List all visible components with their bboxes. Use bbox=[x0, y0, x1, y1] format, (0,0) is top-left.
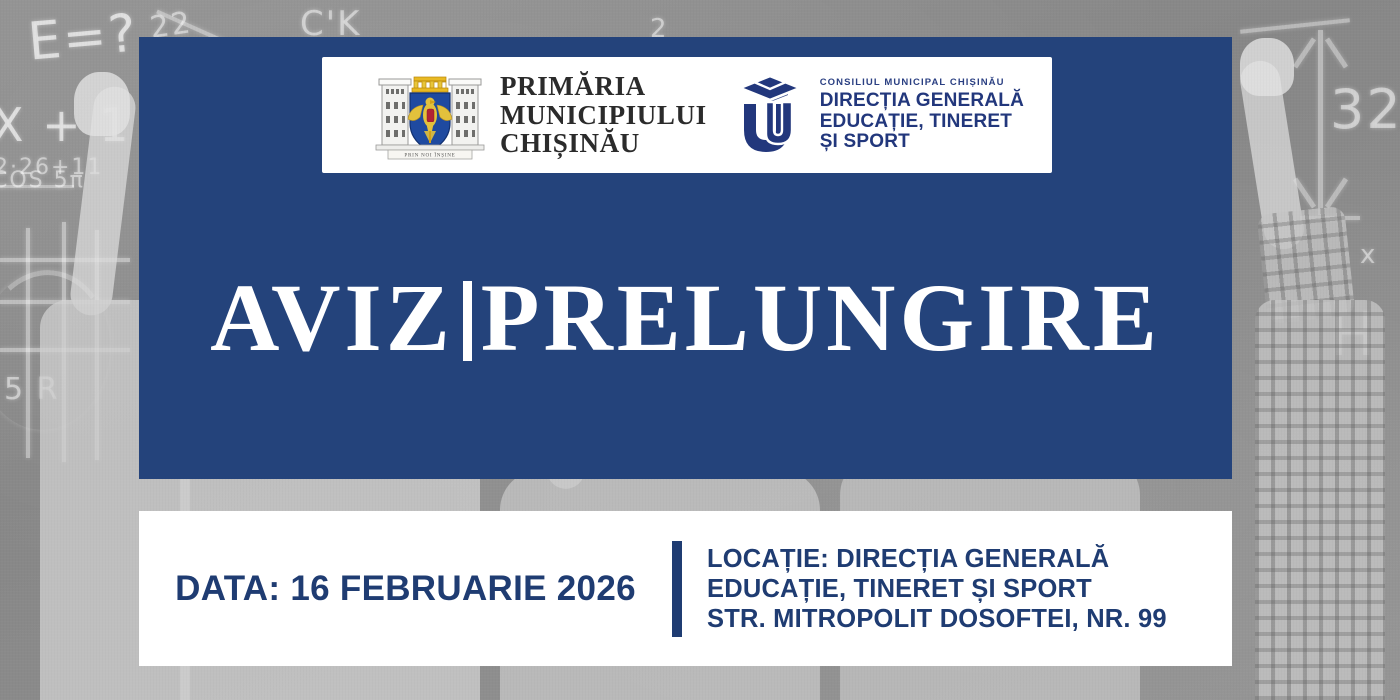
footer-divider bbox=[672, 541, 682, 637]
dgets-line-1: DIRECȚIA GENERALĂ bbox=[820, 91, 1024, 112]
poster-canvas: E=? 22 C'K 2 X + 1 = 2·26+11 COS 5π 5 R … bbox=[0, 0, 1400, 700]
event-date: DATA: 16 FEBRUARIE 2026 bbox=[139, 569, 672, 609]
dgets-superline: CONSILIUL MUNICIPAL CHIȘINĂU bbox=[820, 77, 1024, 88]
title-part-prelungire: PRELUNGIRE bbox=[481, 264, 1161, 371]
location-line-3: STR. MITROPOLIT DOSOFTEI, NR. 99 bbox=[707, 604, 1167, 634]
title-part-aviz: AVIZ bbox=[210, 264, 454, 371]
dgets-monogram-icon bbox=[736, 72, 808, 158]
primaria-line-3: CHIȘINĂU bbox=[500, 129, 707, 158]
primaria-line-2: MUNICIPIULUI bbox=[500, 101, 707, 130]
primaria-line-1: PRIMĂRIA bbox=[500, 72, 707, 101]
chisinau-coat-of-arms-icon: PRIN NOI ÎNȘINE bbox=[374, 69, 486, 161]
primaria-logo-group: PRIN NOI ÎNȘINE PRIMĂRIA MUNICIPIULUI CH… bbox=[374, 69, 707, 161]
dgets-line-2: EDUCAȚIE, TINERET bbox=[820, 112, 1024, 133]
dgets-wordmark: CONSILIUL MUNICIPAL CHIȘINĂU DIRECȚIA GE… bbox=[820, 77, 1024, 153]
footer-bar: DATA: 16 FEBRUARIE 2026 LOCAȚIE: DIRECȚI… bbox=[139, 511, 1232, 666]
coat-of-arms-motto: PRIN NOI ÎNȘINE bbox=[404, 151, 455, 159]
logo-strip: PRIN NOI ÎNȘINE PRIMĂRIA MUNICIPIULUI CH… bbox=[322, 57, 1052, 173]
location-line-2: EDUCAȚIE, TINERET ȘI SPORT bbox=[707, 574, 1167, 604]
title-separator-bar bbox=[463, 281, 472, 361]
page-title: AVIZPRELUNGIRE bbox=[139, 262, 1232, 374]
location-line-1: LOCAȚIE: DIRECȚIA GENERALĂ bbox=[707, 544, 1167, 574]
dgets-logo-group: CONSILIUL MUNICIPAL CHIȘINĂU DIRECȚIA GE… bbox=[736, 72, 1024, 158]
primaria-wordmark: PRIMĂRIA MUNICIPIULUI CHIȘINĂU bbox=[500, 72, 707, 158]
dgets-line-3: ȘI SPORT bbox=[820, 132, 1024, 153]
event-location: LOCAȚIE: DIRECȚIA GENERALĂ EDUCAȚIE, TIN… bbox=[707, 544, 1167, 634]
